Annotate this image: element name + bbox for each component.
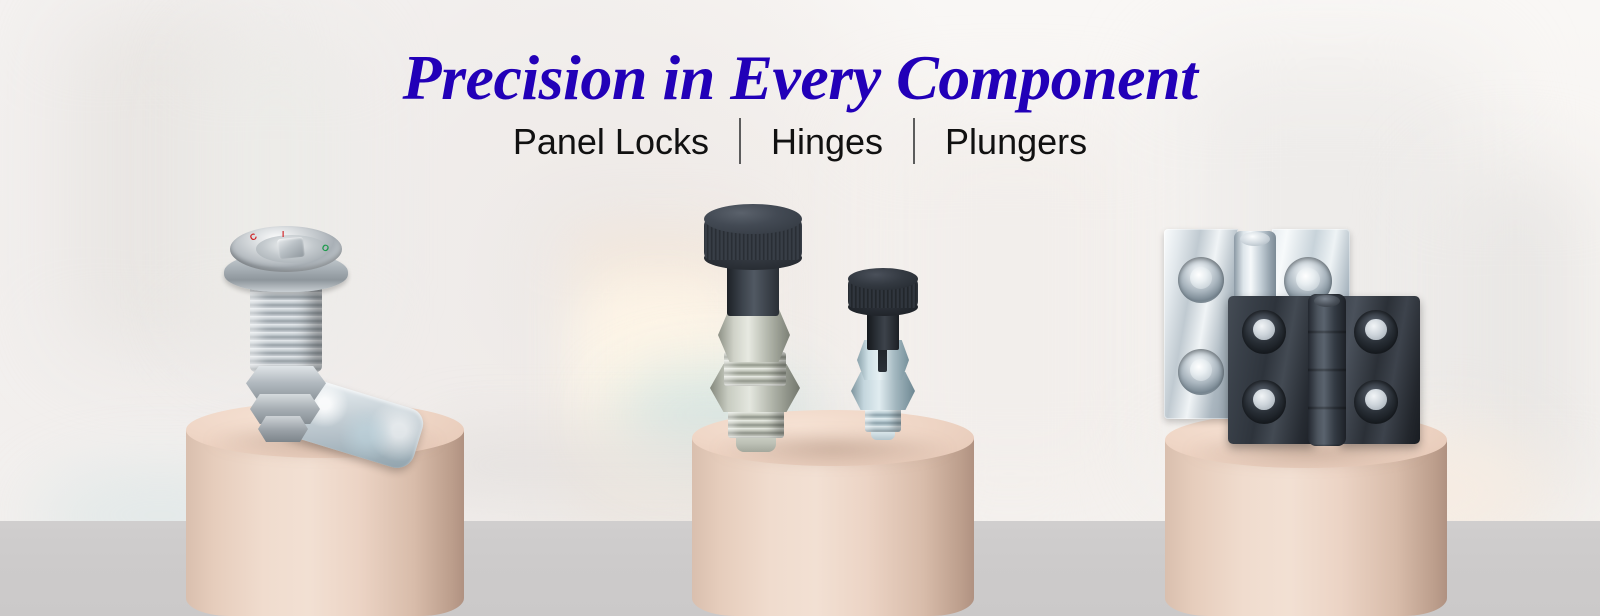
lock-indicator-dot: I xyxy=(282,230,284,239)
hero-banner: Precision in Every Component Panel Locks… xyxy=(0,0,1600,616)
plunger-hex-body xyxy=(718,308,790,362)
hinge-screw-hole xyxy=(1178,349,1224,395)
plunger-knob-top xyxy=(848,268,918,290)
product-indexing-plunger-large[interactable] xyxy=(700,204,810,440)
product-hinge-black[interactable] xyxy=(1228,296,1420,444)
page-title: Precision in Every Component xyxy=(0,46,1600,110)
hinge-screw-hole xyxy=(1178,257,1224,303)
hinge-knuckle xyxy=(1308,294,1346,446)
hinge-pin-cap xyxy=(1314,295,1340,307)
lock-indicator-locked: C xyxy=(248,231,259,243)
hinge-screw-hole xyxy=(1242,310,1286,354)
product-indexing-plunger-small[interactable] xyxy=(845,268,921,440)
hinge-screw-hole xyxy=(1354,310,1398,354)
hinge-pin-cap xyxy=(1240,232,1270,246)
lock-square-drive xyxy=(277,237,305,260)
category-item-hinges[interactable]: Hinges xyxy=(741,119,913,164)
pedestal-middle xyxy=(692,410,974,616)
plunger-knob-top xyxy=(704,204,802,234)
category-item-panel-locks[interactable]: Panel Locks xyxy=(483,119,739,164)
category-item-plungers[interactable]: Plungers xyxy=(915,119,1117,164)
lock-threaded-barrel xyxy=(250,284,322,372)
hinge-screw-hole xyxy=(1242,380,1286,424)
product-panel-lock[interactable]: C I O xyxy=(224,226,434,438)
category-list: Panel Locks Hinges Plungers xyxy=(0,118,1600,164)
lock-head: C I O xyxy=(230,226,342,272)
lock-hex-nut xyxy=(258,416,308,442)
hinge-screw-hole xyxy=(1354,380,1398,424)
